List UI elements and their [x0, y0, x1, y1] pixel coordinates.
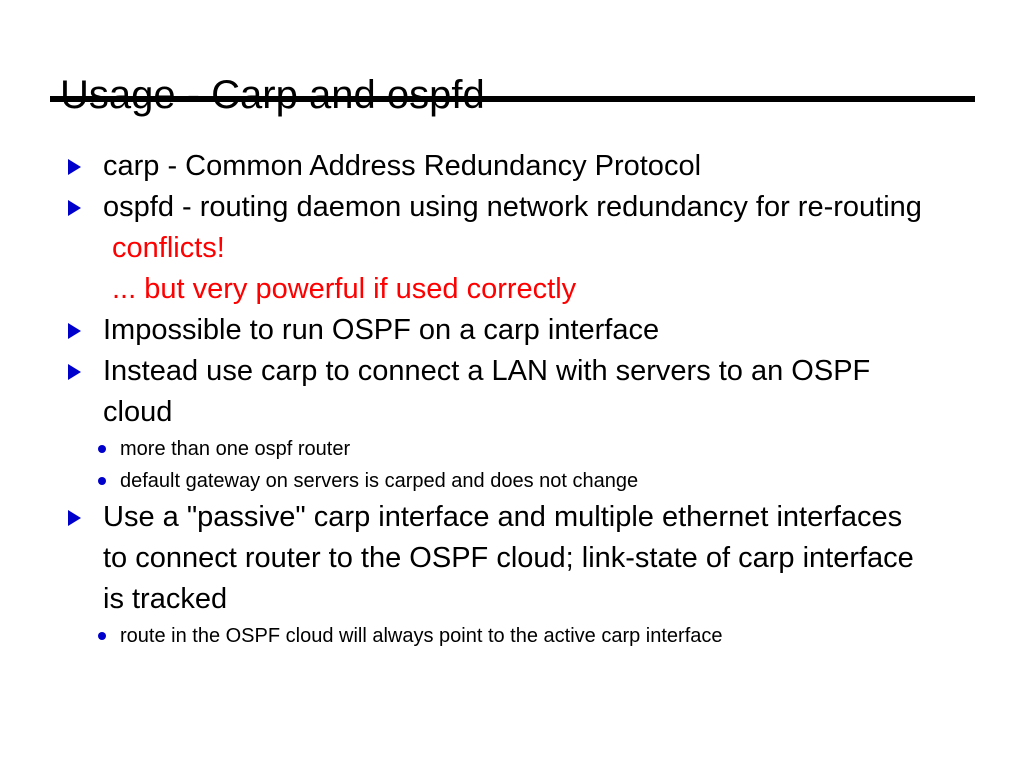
bullet-item: Use a "passive" carp interface and multi…: [66, 497, 986, 620]
sub-bullet-item: more than one ospf router: [66, 433, 986, 465]
highlight-line: ... but very powerful if used correctly: [112, 269, 986, 310]
sub-bullet-item: route in the OSPF cloud will always poin…: [66, 620, 986, 652]
bullet-text: ospfd - routing daemon using network red…: [103, 187, 933, 228]
triangle-bullet-icon: [66, 146, 103, 175]
triangle-bullet-icon: [66, 187, 103, 216]
bullet-text: Impossible to run OSPF on a carp interfa…: [103, 310, 933, 351]
dot-bullet-icon: [66, 433, 120, 453]
dot-bullet-icon: [66, 620, 120, 640]
bullet-text: carp - Common Address Redundancy Protoco…: [103, 146, 933, 187]
bullet-item: ospfd - routing daemon using network red…: [66, 187, 986, 228]
bullet-item: Instead use carp to connect a LAN with s…: [66, 351, 986, 433]
bullet-item: Impossible to run OSPF on a carp interfa…: [66, 310, 986, 351]
dot-bullet-icon: [66, 465, 120, 485]
sub-bullet-text: more than one ospf router: [120, 433, 986, 465]
bullet-text: Use a "passive" carp interface and multi…: [103, 497, 933, 620]
title-divider: [50, 96, 975, 102]
slide: Usage - Carp and ospfd carp - Common Add…: [0, 0, 1024, 768]
highlight-line: conflicts!: [112, 228, 986, 269]
sub-bullet-text: default gateway on servers is carped and…: [120, 465, 986, 497]
triangle-bullet-icon: [66, 497, 103, 526]
slide-body: carp - Common Address Redundancy Protoco…: [66, 146, 986, 652]
sub-bullet-text: route in the OSPF cloud will always poin…: [120, 620, 986, 652]
bullet-item: carp - Common Address Redundancy Protoco…: [66, 146, 986, 187]
page-title: Usage - Carp and ospfd: [60, 71, 485, 119]
bullet-text: Instead use carp to connect a LAN with s…: [103, 351, 933, 433]
triangle-bullet-icon: [66, 310, 103, 339]
triangle-bullet-icon: [66, 351, 103, 380]
sub-bullet-item: default gateway on servers is carped and…: [66, 465, 986, 497]
